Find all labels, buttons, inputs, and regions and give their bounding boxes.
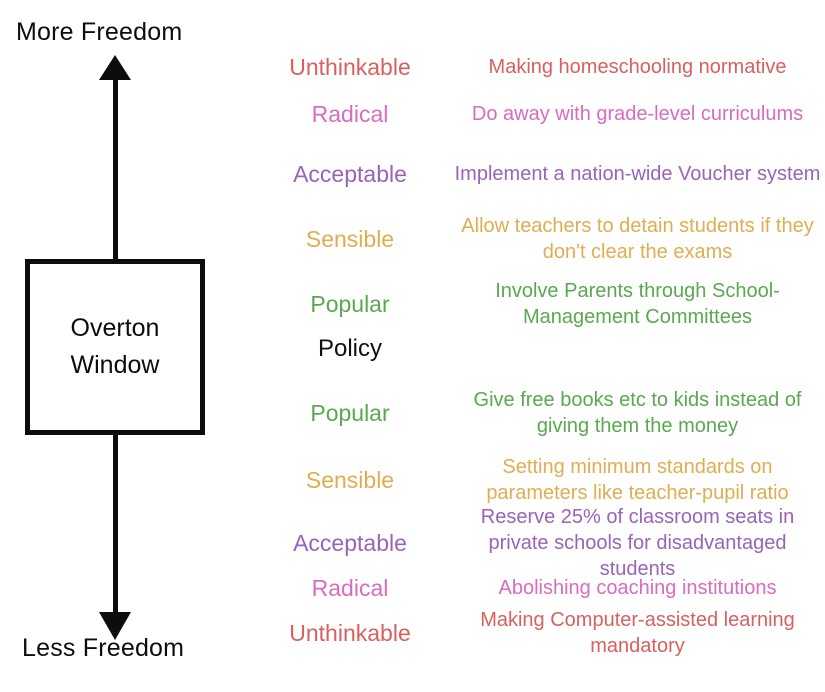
more-freedom-label: More Freedom — [16, 18, 182, 47]
tier-label: Radical — [250, 573, 450, 603]
tier-description: Give free books etc to kids instead of g… — [450, 387, 825, 439]
policy-tier-row: AcceptableReserve 25% of classroom seats… — [250, 515, 825, 571]
tier-description: Making homeschooling normative — [450, 54, 825, 80]
policy-center-row: Policy — [250, 332, 825, 366]
tier-label: Acceptable — [250, 159, 450, 189]
policy-tier-list: UnthinkableMaking homeschooling normativ… — [250, 0, 825, 692]
tier-label: Sensible — [250, 465, 450, 495]
tier-description: Implement a nation-wide Voucher system — [450, 161, 825, 187]
tier-description: Setting minimum standards on parameters … — [450, 454, 825, 506]
policy-tier-row: PopularInvolve Parents through School-Ma… — [250, 276, 825, 332]
tier-description: Do away with grade-level curriculums — [450, 101, 825, 127]
tier-description: Reserve 25% of classroom seats in privat… — [450, 504, 825, 582]
tier-label: Popular — [250, 289, 450, 319]
axis-shaft-lower — [113, 430, 118, 616]
tier-description: Making Computer-assisted learning mandat… — [450, 607, 825, 659]
policy-tier-row: RadicalDo away with grade-level curricul… — [250, 97, 825, 131]
tier-label: Unthinkable — [250, 618, 450, 648]
axis-shaft-upper — [113, 74, 118, 264]
tier-label: Popular — [250, 398, 450, 428]
tier-description: Involve Parents through School-Managemen… — [450, 278, 825, 330]
tier-description: Abolishing coaching institutions — [450, 575, 825, 601]
tier-label: Policy — [250, 334, 450, 364]
policy-tier-row: PopularGive free books etc to kids inste… — [250, 383, 825, 443]
policy-tier-row: RadicalAbolishing coaching institutions — [250, 572, 825, 604]
tier-label: Radical — [250, 99, 450, 129]
overton-window-box: Overton Window — [25, 259, 205, 435]
less-freedom-label: Less Freedom — [22, 634, 184, 663]
policy-tier-row: UnthinkableMaking Computer-assisted lear… — [250, 604, 825, 662]
overton-window-label-line2: Window — [71, 347, 160, 384]
policy-tier-row: SensibleSetting minimum standards on par… — [250, 450, 825, 510]
tier-description: Allow teachers to detain students if the… — [450, 213, 825, 265]
tier-label: Sensible — [250, 224, 450, 254]
tier-label: Unthinkable — [250, 52, 450, 82]
policy-tier-row: UnthinkableMaking homeschooling normativ… — [250, 50, 825, 84]
policy-tier-row: AcceptableImplement a nation-wide Vouche… — [250, 144, 825, 204]
overton-window-label-line1: Overton — [71, 310, 160, 347]
overton-window-diagram: More Freedom Overton Window Less Freedom… — [0, 0, 825, 692]
policy-tier-row: SensibleAllow teachers to detain student… — [250, 209, 825, 269]
tier-label: Acceptable — [250, 528, 450, 558]
